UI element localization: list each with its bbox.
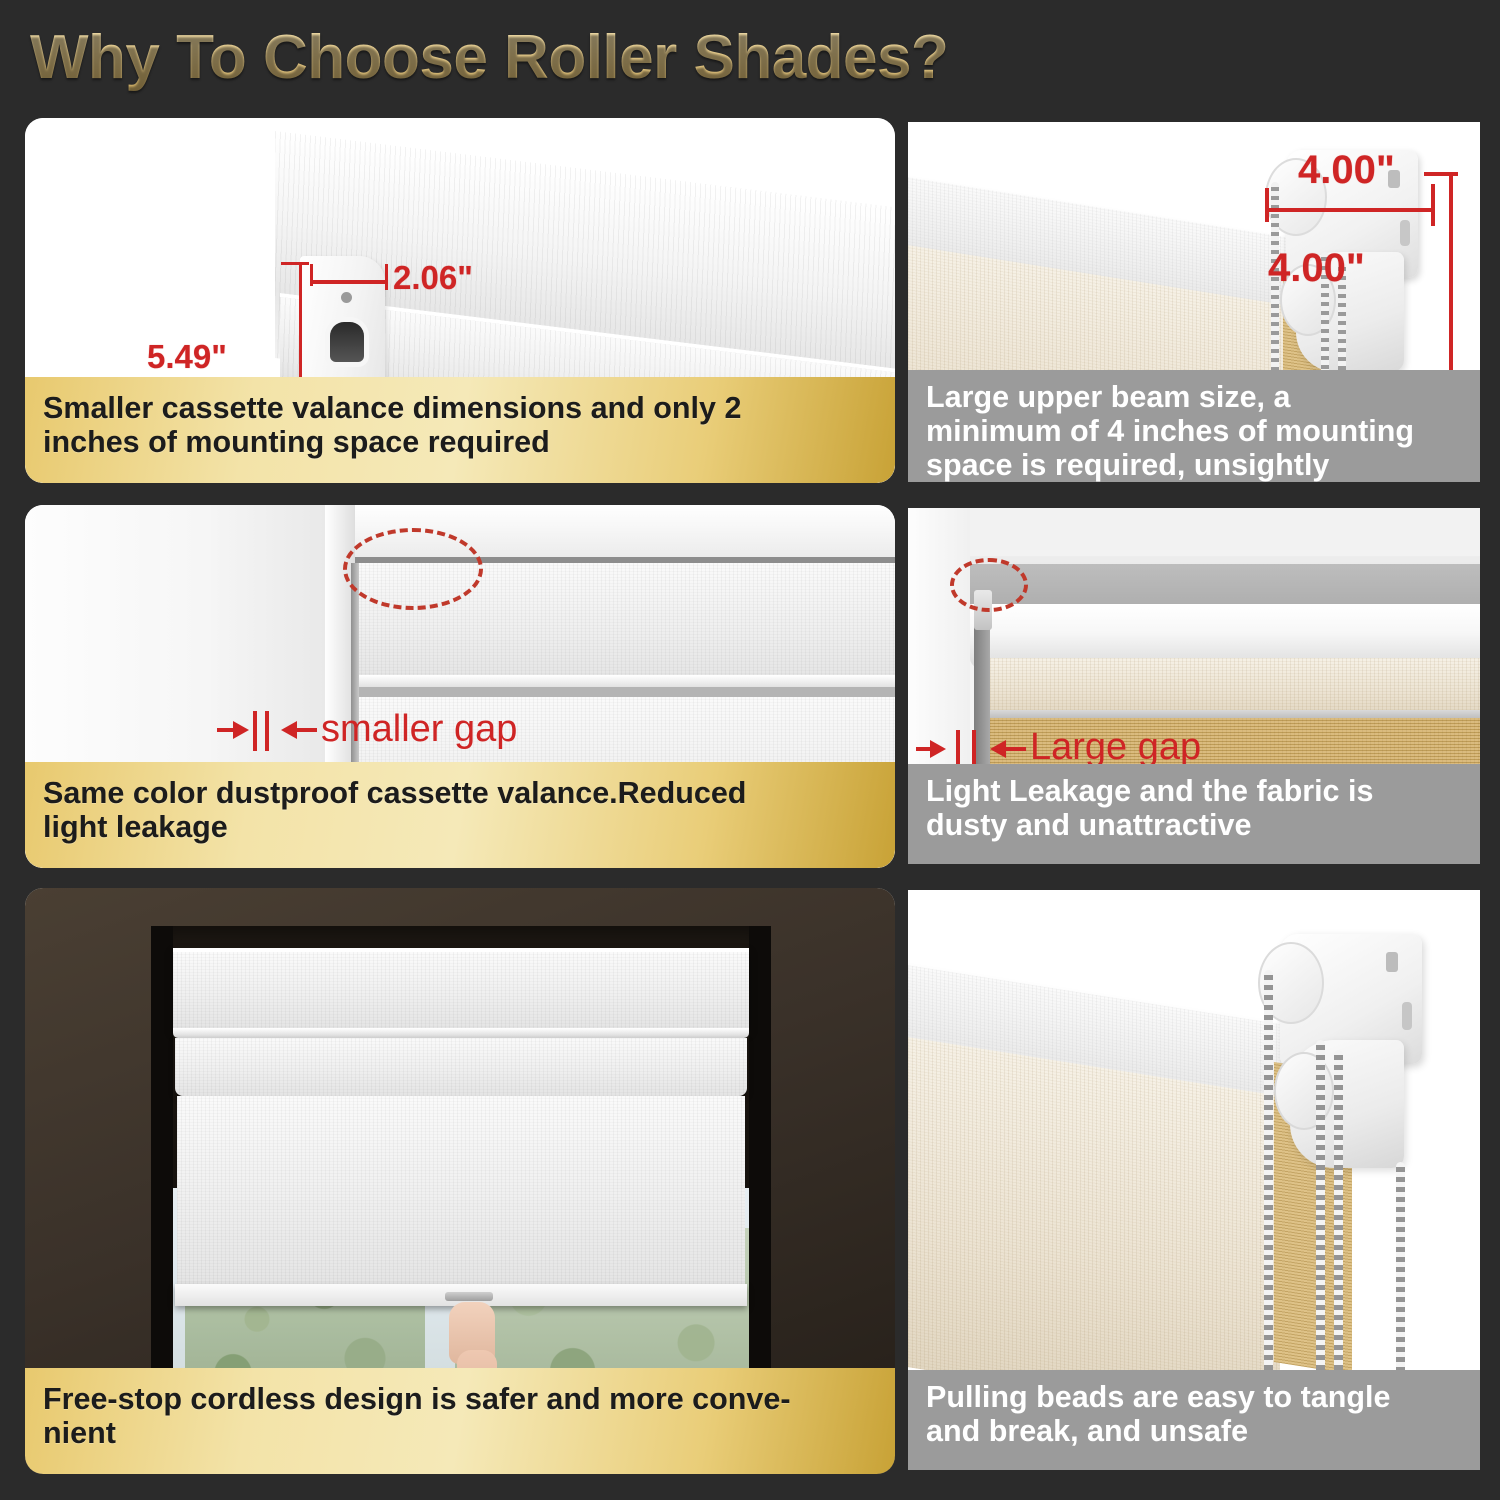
- beam-width-tick-right: [1431, 184, 1435, 226]
- caption-line: space is required, unsightly: [926, 448, 1462, 482]
- caption-line: Pulling beads are easy to tangle: [926, 1380, 1462, 1414]
- beam-width-dimension-line: [1266, 208, 1434, 212]
- large-gap-label: Large gap: [1030, 728, 1201, 766]
- width-dimension-line: [310, 280, 388, 284]
- height-dimension-label: 5.49": [147, 340, 227, 373]
- panel-smaller-cassette-valance: 2.06" 5.49" Smaller cassette valance dim…: [25, 118, 895, 483]
- gap-arrow-right-stem: [295, 728, 317, 732]
- caption-line: minimum of 4 inches of mounting: [926, 414, 1462, 448]
- caption-line: inches of mounting space required: [43, 425, 877, 459]
- panel-pulling-beads-tangle: Pulling beads are easy to tangle and bre…: [908, 890, 1480, 1470]
- gap-arrow-left-stem: [217, 728, 237, 732]
- caption-line: Same color dustproof cassette valance.Re…: [43, 776, 877, 810]
- width-dimension-tick-right: [385, 264, 388, 290]
- caption-line: Large upper beam size, a: [926, 380, 1462, 414]
- page-title: Why To Choose Roller Shades?: [30, 18, 1430, 98]
- caption-pulling-beads-tangle: Pulling beads are easy to tangle and bre…: [908, 1370, 1480, 1470]
- panel-large-upper-beam: 4.00" 4.00" Large upper beam size, a min…: [908, 122, 1480, 482]
- infographic-root: Why To Choose Roller Shades? 2.06" 5.49": [0, 0, 1500, 1500]
- smaller-gap-label: smaller gap: [321, 710, 517, 748]
- width-dimension-label: 2.06": [393, 261, 473, 294]
- highlight-ellipse-small-gap: [343, 528, 483, 610]
- caption-line: Light Leakage and the fabric is: [926, 774, 1462, 808]
- caption-line: Smaller cassette valance dimensions and …: [43, 391, 877, 425]
- caption-line: nient: [43, 1416, 877, 1450]
- panel-light-leakage-dusty-fabric: Large gap Light Leakage and the fabric i…: [908, 508, 1480, 864]
- caption-line: light leakage: [43, 810, 877, 844]
- panel-dustproof-cassette-valance: smaller gap Same color dustproof cassett…: [25, 505, 895, 868]
- beam-width-tick-left: [1265, 188, 1269, 222]
- caption-dustproof-cassette-valance: Same color dustproof cassette valance.Re…: [25, 762, 895, 868]
- width-dimension-tick-left: [310, 264, 313, 286]
- caption-line: Free-stop cordless design is safer and m…: [43, 1382, 877, 1416]
- panel-free-stop-cordless-design: Free-stop cordless design is safer and m…: [25, 888, 895, 1474]
- caption-smaller-cassette-valance: Smaller cassette valance dimensions and …: [25, 377, 895, 483]
- gap-arrow-left-stem: [916, 747, 934, 751]
- beam-height-dimension-label: 4.00": [1268, 248, 1365, 288]
- caption-line: and break, and unsafe: [926, 1414, 1462, 1448]
- highlight-ellipse-large-gap: [950, 558, 1028, 612]
- beam-width-dimension-label: 4.00": [1298, 150, 1395, 190]
- gap-marker-left: [253, 711, 257, 751]
- caption-line: dusty and unattractive: [926, 808, 1462, 842]
- gap-arrow-right-stem: [1004, 747, 1026, 751]
- height-dimension-tick-top: [281, 262, 309, 265]
- caption-light-leakage-dusty-fabric: Light Leakage and the fabric is dusty an…: [908, 764, 1480, 864]
- shade-pull-handle: [445, 1292, 493, 1301]
- beam-height-dimension-line: [1449, 172, 1453, 388]
- caption-free-stop-cordless-design: Free-stop cordless design is safer and m…: [25, 1368, 895, 1474]
- beam-height-tick-top: [1424, 172, 1458, 176]
- gap-marker-right: [265, 711, 269, 751]
- caption-large-upper-beam: Large upper beam size, a minimum of 4 in…: [908, 370, 1480, 482]
